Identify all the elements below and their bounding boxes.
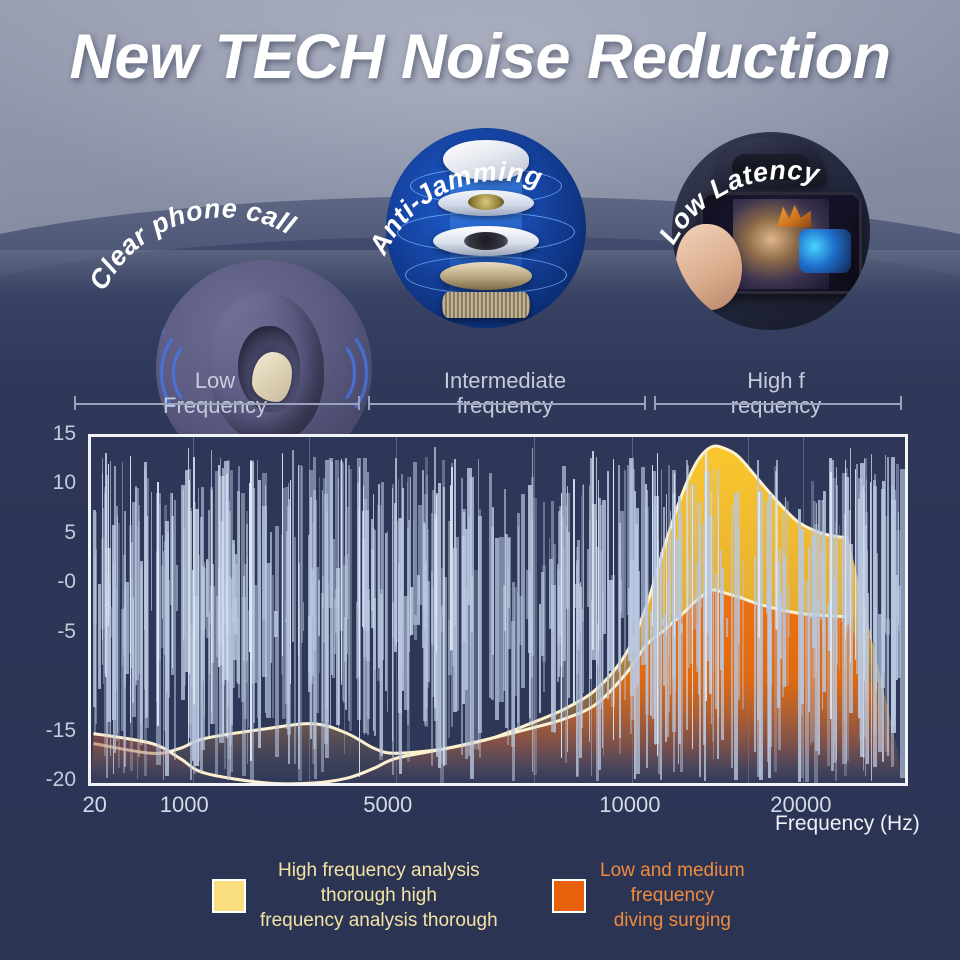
- spectrum-bar-spike: [478, 459, 479, 750]
- spectrum-bar-spike: [504, 489, 505, 630]
- spectrum-bar-spike: [373, 494, 374, 731]
- spectrum-bar-spike: [561, 493, 562, 758]
- spectrum-bar: [110, 461, 112, 756]
- spectrum-bar-spike: [108, 464, 109, 627]
- spectrum-bar: [738, 490, 740, 644]
- spectrum-bar-spike: [193, 457, 194, 705]
- feature-low-latency: Low Latency: [650, 108, 900, 368]
- spectrum-bar-spike: [218, 465, 219, 668]
- spectrum-bar-spike: [598, 480, 599, 651]
- phone-gaming-icon: [672, 132, 870, 330]
- spectrum-bar: [726, 618, 728, 637]
- headset-shape: [716, 138, 826, 186]
- spectrum-bar: [785, 501, 789, 686]
- spectrum-bar-spike: [613, 469, 614, 667]
- x-tick-10000: 10000: [599, 792, 660, 818]
- speaker-driver-exploded-icon: [386, 128, 586, 328]
- band-high-line1: High f: [652, 368, 900, 393]
- page-title: New TECH Noise Reduction: [0, 26, 960, 89]
- x-axis-title: Frequency (Hz): [775, 812, 920, 836]
- feature-clear-phone-call: Clear phone call: [60, 112, 350, 372]
- spectrum-bar-spike: [189, 480, 190, 674]
- spectrum-bar-spike: [436, 495, 437, 654]
- spectrum-bar: [507, 566, 509, 745]
- spectrum-bar-spike: [711, 491, 712, 724]
- spectrum-bar: [813, 501, 817, 678]
- spectrum-bar: [228, 596, 232, 759]
- spectrum-bar-spike: [657, 453, 658, 756]
- spectrum-bar: [200, 517, 203, 772]
- spectrum-bar: [567, 486, 569, 752]
- spectrum-bar-spike: [392, 488, 393, 740]
- spectrum-bar: [118, 523, 120, 769]
- spectrum-bar: [731, 505, 734, 768]
- spectrum-bar-spike: [830, 472, 831, 719]
- spectrum-bar: [242, 597, 246, 777]
- band-intermediate-line1: Intermediate: [366, 368, 644, 393]
- spectrum-bar-spike: [298, 465, 299, 657]
- spectrum-bar: [294, 537, 296, 764]
- spectrum-bar: [138, 505, 140, 757]
- spectrum-bar: [782, 513, 784, 698]
- poster-root: New TECH Noise Reduction Clear phone cal…: [0, 0, 960, 960]
- y-tick--20: -20: [22, 768, 76, 792]
- legend-swatch-yellow: [212, 879, 246, 913]
- band-low-frequency: Low Frequency: [70, 368, 360, 418]
- spectrum-bar: [805, 581, 809, 783]
- y-tick--15: -15: [22, 719, 76, 743]
- spectrum-bar-spike: [183, 489, 184, 641]
- spectrum-bar: [754, 557, 756, 752]
- legend-label-high-frequency: High frequency analysis thorough high fr…: [260, 858, 498, 933]
- spectrum-bar-spike: [359, 467, 360, 777]
- spectrum-bar: [312, 522, 315, 764]
- spectrum-bar: [619, 541, 621, 754]
- spectrum-bar-spike: [292, 450, 293, 642]
- spectrum-bar: [275, 526, 279, 756]
- spectrum-bar: [720, 550, 722, 626]
- spectrum-chart[interactable]: [88, 434, 908, 786]
- spectrum-bar: [696, 625, 699, 666]
- y-tick--5: -5: [22, 620, 76, 644]
- x-tick-1000: 1000: [160, 792, 209, 818]
- x-tick-20: 20: [82, 792, 106, 818]
- spectrum-bar-spike: [775, 471, 776, 629]
- band-low-line1: Low: [70, 368, 360, 393]
- spectrum-bar: [174, 500, 176, 760]
- driver-disc-1-center: [468, 194, 504, 210]
- spectrum-bar-spike: [692, 485, 693, 749]
- spectrum-bar-spike: [850, 448, 851, 664]
- legend-swatch-orange: [552, 879, 586, 913]
- noise-spectrum-bars-front: [91, 437, 905, 783]
- spectrum-bar-spike: [257, 460, 258, 719]
- spectrum-bar: [700, 502, 703, 608]
- spectrum-bar-spike: [222, 468, 223, 734]
- legend-label-low-medium-frequency: Low and medium frequency diving surging: [600, 858, 745, 933]
- spectrum-bar-spike: [363, 486, 364, 630]
- spectrum-bar: [144, 569, 146, 776]
- driver-disc-2-center: [464, 232, 508, 250]
- spectrum-bar: [344, 556, 346, 754]
- driver-mesh-base: [442, 292, 530, 318]
- spectrum-bar: [778, 585, 781, 750]
- spectrum-bar-spike: [845, 460, 846, 639]
- spectrum-bar: [900, 469, 905, 778]
- spectrum-bar: [286, 531, 289, 729]
- spectrum-bar: [512, 582, 515, 781]
- y-tick-15: 15: [22, 422, 76, 446]
- spectrum-bar-spike: [674, 473, 675, 637]
- spectrum-bar: [114, 466, 116, 754]
- spectrum-bar: [646, 490, 648, 768]
- spectrum-bar: [247, 557, 248, 764]
- spectrum-bar: [165, 521, 169, 777]
- spectrum-bar-spike: [410, 477, 411, 637]
- spectrum-bar: [399, 518, 402, 775]
- band-bracket-low: [74, 396, 360, 410]
- spectrum-bar: [380, 594, 383, 756]
- spectrum-bar: [680, 624, 683, 633]
- spectrum-bar: [479, 509, 481, 759]
- legend-item-low-medium-frequency[interactable]: Low and medium frequency diving surging: [552, 858, 772, 933]
- feature-anti-jamming: Anti-Jamming: [366, 104, 614, 364]
- spectrum-bar: [898, 512, 900, 626]
- spectrum-bar: [163, 551, 164, 780]
- earbud-shell-shape: [443, 140, 529, 180]
- band-high-frequency: High f requency: [652, 368, 900, 418]
- spectrum-bar: [324, 494, 328, 744]
- x-tick-5000: 5000: [363, 792, 412, 818]
- spectrum-bar-spike: [592, 451, 593, 650]
- spectrum-bar: [551, 585, 555, 732]
- spectrum-bar: [662, 618, 663, 626]
- spectrum-bar: [680, 513, 683, 772]
- spectrum-bar: [635, 524, 638, 652]
- band-bracket-high: [654, 396, 902, 410]
- spectrum-bar-spike: [652, 465, 653, 626]
- spectrum-bar: [470, 477, 474, 779]
- spectrum-bar: [624, 470, 626, 700]
- chart-legend: High frequency analysis thorough high fr…: [0, 846, 960, 946]
- spectrum-bar: [629, 458, 633, 653]
- spectrum-bar-spike: [172, 493, 173, 668]
- spectrum-bar: [698, 502, 700, 695]
- spectrum-bar: [576, 565, 578, 775]
- spectrum-bar-spike: [450, 485, 451, 651]
- spectrum-bar-spike: [250, 461, 251, 762]
- spectrum-bar: [431, 571, 433, 766]
- driver-magnet: [440, 262, 532, 290]
- spectrum-bar-spike: [443, 487, 444, 766]
- spectrum-bar-spike: [864, 459, 865, 681]
- spectrum-bar: [768, 622, 772, 747]
- spectrum-bar: [581, 495, 582, 746]
- spectrum-bar-spike: [871, 454, 872, 782]
- spectrum-bar: [533, 498, 537, 775]
- y-tick-10: 10: [22, 471, 76, 495]
- game-character-weapon-glow: [799, 229, 851, 273]
- spectrum-bar: [123, 607, 125, 773]
- spectrum-bar: [712, 468, 714, 742]
- spectrum-bar-spike: [338, 478, 339, 729]
- y-tick-5: 5: [22, 521, 76, 545]
- spectrum-bar: [833, 581, 836, 764]
- spectrum-bar: [766, 501, 768, 613]
- spectrum-bar-spike: [532, 448, 533, 772]
- spectrum-bar: [894, 490, 897, 708]
- y-tick--0: -0: [22, 570, 76, 594]
- spectrum-bar: [607, 471, 609, 699]
- spectrum-bar: [873, 486, 877, 767]
- spectrum-bar-spike: [573, 479, 574, 703]
- band-bracket-intermediate: [368, 396, 646, 410]
- game-character-hair: [777, 205, 811, 227]
- spectrum-bar: [801, 529, 805, 704]
- spectrum-bar: [224, 581, 226, 769]
- spectrum-bar: [823, 491, 826, 692]
- spectrum-bar: [650, 611, 652, 716]
- spectrum-bar: [841, 537, 843, 622]
- spectrum-bar: [517, 513, 521, 729]
- spectrum-bar-spike: [226, 473, 227, 738]
- band-intermediate-frequency: Intermediate frequency: [366, 368, 644, 418]
- frequency-band-row: Low Frequency Intermediate frequency Hig…: [70, 368, 900, 428]
- spectrum-bar: [707, 471, 710, 661]
- spectrum-bar-spike: [590, 458, 591, 680]
- spectrum-bar-spike: [105, 453, 106, 677]
- spectrum-bar-spike: [885, 455, 886, 633]
- hand-thumb-shape: [676, 224, 742, 310]
- spectrum-bar: [742, 561, 744, 709]
- legend-item-high-frequency[interactable]: High frequency analysis thorough high fr…: [212, 858, 512, 933]
- spectrum-bar-spike: [758, 492, 759, 638]
- spectrum-bar-spike: [596, 457, 597, 703]
- spectrum-bar-spike: [282, 453, 283, 656]
- spectrum-bar-spike: [451, 467, 452, 650]
- spectrum-bar-spike: [589, 485, 590, 742]
- spectrum-bar-spike: [686, 460, 687, 730]
- spectrum-bar: [461, 478, 463, 755]
- spectrum-bar: [660, 552, 662, 780]
- spectrum-bar: [603, 591, 604, 756]
- spectrum-bar-spike: [341, 459, 342, 679]
- spectrum-bar-spike: [705, 453, 706, 701]
- spectrum-bar: [668, 539, 671, 621]
- spectrum-bar-spike: [157, 482, 158, 726]
